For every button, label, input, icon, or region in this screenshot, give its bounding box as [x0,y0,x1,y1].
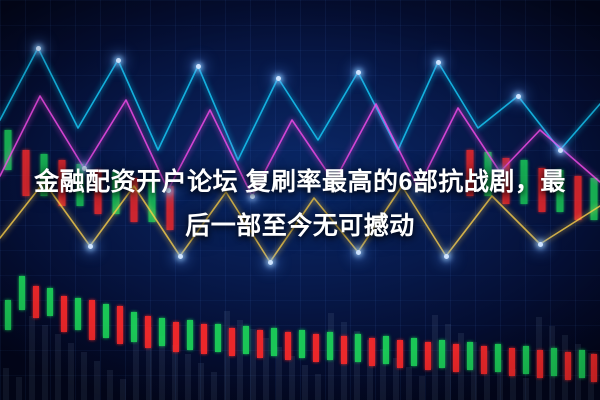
data-point-marker [436,60,441,65]
data-point-marker [268,260,273,265]
data-point-marker [356,250,361,255]
data-point-marker [444,254,449,259]
caption-text: 金融配资开户论坛 复刷率最高的6部抗战剧，最 后一部至今无可撼动 [0,160,600,248]
data-point-marker [558,148,563,153]
image-canvas: 金融配资开户论坛 复刷率最高的6部抗战剧，最 后一部至今无可撼动 [0,0,600,400]
data-point-marker [276,76,281,81]
data-point-marker [516,94,521,99]
data-point-marker [178,254,183,259]
data-point-marker [196,64,201,69]
data-point-marker [116,58,121,63]
data-point-marker [36,46,41,51]
data-point-marker [356,70,361,75]
